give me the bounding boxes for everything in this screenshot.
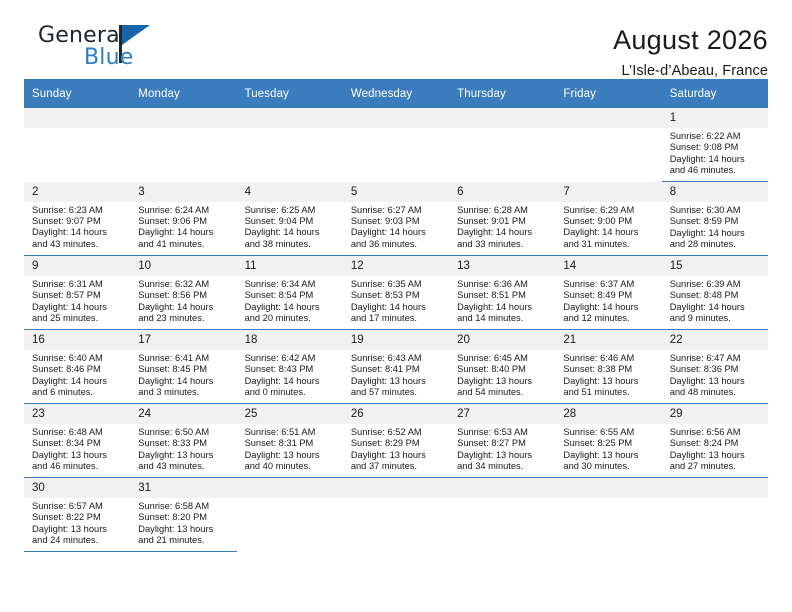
sunset-text: Sunset: 9:04 PM: [245, 216, 337, 227]
day-number: 15: [662, 256, 768, 276]
calendar-day-cell[interactable]: 19Sunrise: 6:43 AMSunset: 8:41 PMDayligh…: [343, 330, 449, 404]
calendar-day-cell[interactable]: 2Sunrise: 6:23 AMSunset: 9:07 PMDaylight…: [24, 182, 130, 256]
calendar-day-cell[interactable]: 29Sunrise: 6:56 AMSunset: 8:24 PMDayligh…: [662, 404, 768, 478]
day-number-placeholder: [343, 108, 449, 128]
calendar-day-cell[interactable]: 18Sunrise: 6:42 AMSunset: 8:43 PMDayligh…: [237, 330, 343, 404]
day-sun-info: Sunrise: 6:29 AMSunset: 9:00 PMDaylight:…: [555, 202, 661, 251]
day-sun-info: Sunrise: 6:41 AMSunset: 8:45 PMDaylight:…: [130, 350, 236, 399]
sunset-text: Sunset: 8:25 PM: [563, 438, 655, 449]
day-sun-info: Sunrise: 6:39 AMSunset: 8:48 PMDaylight:…: [662, 276, 768, 325]
sunrise-text: Sunrise: 6:52 AM: [351, 427, 443, 438]
sunrise-text: Sunrise: 6:50 AM: [138, 427, 230, 438]
daylight-text: Daylight: 14 hours and 3 minutes.: [138, 376, 230, 399]
daylight-text: Daylight: 13 hours and 27 minutes.: [670, 450, 762, 473]
day-sun-info: Sunrise: 6:27 AMSunset: 9:03 PMDaylight:…: [343, 202, 449, 251]
sunrise-text: Sunrise: 6:47 AM: [670, 353, 762, 364]
day-number-placeholder: [24, 108, 130, 128]
day-sun-info: Sunrise: 6:46 AMSunset: 8:38 PMDaylight:…: [555, 350, 661, 399]
day-sun-info: Sunrise: 6:51 AMSunset: 8:31 PMDaylight:…: [237, 424, 343, 473]
sunset-text: Sunset: 8:53 PM: [351, 290, 443, 301]
daylight-text: Daylight: 14 hours and 9 minutes.: [670, 302, 762, 325]
day-number: 10: [130, 256, 236, 276]
calendar-day-cell[interactable]: 25Sunrise: 6:51 AMSunset: 8:31 PMDayligh…: [237, 404, 343, 478]
daylight-text: Daylight: 14 hours and 6 minutes.: [32, 376, 124, 399]
calendar-day-cell[interactable]: 7Sunrise: 6:29 AMSunset: 9:00 PMDaylight…: [555, 182, 661, 256]
daylight-text: Daylight: 14 hours and 20 minutes.: [245, 302, 337, 325]
day-number: 26: [343, 404, 449, 424]
day-number: 11: [237, 256, 343, 276]
calendar-cell-empty: [555, 478, 661, 552]
sunset-text: Sunset: 8:36 PM: [670, 364, 762, 375]
general-blue-logo[interactable]: General Blue: [24, 22, 214, 78]
sunrise-text: Sunrise: 6:32 AM: [138, 279, 230, 290]
calendar-day-cell[interactable]: 17Sunrise: 6:41 AMSunset: 8:45 PMDayligh…: [130, 330, 236, 404]
sunset-text: Sunset: 8:41 PM: [351, 364, 443, 375]
day-number-placeholder: [237, 478, 343, 498]
sunset-text: Sunset: 8:46 PM: [32, 364, 124, 375]
calendar-day-cell[interactable]: 28Sunrise: 6:55 AMSunset: 8:25 PMDayligh…: [555, 404, 661, 478]
calendar-week-row: 1Sunrise: 6:22 AMSunset: 9:08 PMDaylight…: [24, 108, 768, 182]
calendar-day-cell[interactable]: 9Sunrise: 6:31 AMSunset: 8:57 PMDaylight…: [24, 256, 130, 330]
calendar-cell-empty: [237, 108, 343, 182]
sunrise-text: Sunrise: 6:53 AM: [457, 427, 549, 438]
calendar-day-cell[interactable]: 15Sunrise: 6:39 AMSunset: 8:48 PMDayligh…: [662, 256, 768, 330]
day-sun-info: Sunrise: 6:45 AMSunset: 8:40 PMDaylight:…: [449, 350, 555, 399]
day-number: 31: [130, 478, 236, 498]
sunrise-text: Sunrise: 6:45 AM: [457, 353, 549, 364]
calendar-day-cell[interactable]: 16Sunrise: 6:40 AMSunset: 8:46 PMDayligh…: [24, 330, 130, 404]
calendar-cell-empty: [662, 478, 768, 552]
page-title: August 2026: [613, 24, 768, 56]
sunset-text: Sunset: 8:43 PM: [245, 364, 337, 375]
calendar-day-cell[interactable]: 26Sunrise: 6:52 AMSunset: 8:29 PMDayligh…: [343, 404, 449, 478]
page-header: General Blue August 2026 L’Isle-d’Abeau,…: [24, 0, 768, 76]
sunrise-text: Sunrise: 6:43 AM: [351, 353, 443, 364]
day-sun-info: Sunrise: 6:58 AMSunset: 8:20 PMDaylight:…: [130, 498, 236, 547]
day-sun-info: Sunrise: 6:36 AMSunset: 8:51 PMDaylight:…: [449, 276, 555, 325]
sunset-text: Sunset: 8:29 PM: [351, 438, 443, 449]
sunrise-text: Sunrise: 6:39 AM: [670, 279, 762, 290]
weekday-header-friday: Friday: [555, 79, 661, 108]
day-sun-info: Sunrise: 6:47 AMSunset: 8:36 PMDaylight:…: [662, 350, 768, 399]
sunrise-text: Sunrise: 6:28 AM: [457, 205, 549, 216]
day-number: 3: [130, 182, 236, 202]
sunrise-text: Sunrise: 6:57 AM: [32, 501, 124, 512]
month-calendar: Sunday Monday Tuesday Wednesday Thursday…: [24, 79, 768, 552]
daylight-text: Daylight: 13 hours and 34 minutes.: [457, 450, 549, 473]
calendar-cell-empty: [343, 108, 449, 182]
calendar-day-cell[interactable]: 4Sunrise: 6:25 AMSunset: 9:04 PMDaylight…: [237, 182, 343, 256]
sunset-text: Sunset: 8:48 PM: [670, 290, 762, 301]
day-number-placeholder: [237, 108, 343, 128]
day-sun-info: Sunrise: 6:52 AMSunset: 8:29 PMDaylight:…: [343, 424, 449, 473]
weekday-header-row: Sunday Monday Tuesday Wednesday Thursday…: [24, 79, 768, 108]
day-number: 13: [449, 256, 555, 276]
weekday-header-monday: Monday: [130, 79, 236, 108]
daylight-text: Daylight: 13 hours and 21 minutes.: [138, 524, 230, 547]
daylight-text: Daylight: 13 hours and 24 minutes.: [32, 524, 124, 547]
sunset-text: Sunset: 9:06 PM: [138, 216, 230, 227]
day-number-placeholder: [555, 478, 661, 498]
weekday-header-tuesday: Tuesday: [237, 79, 343, 108]
calendar-cell-empty: [449, 478, 555, 552]
logo-triangle-icon: [122, 25, 150, 45]
day-sun-info: Sunrise: 6:48 AMSunset: 8:34 PMDaylight:…: [24, 424, 130, 473]
day-number: 30: [24, 478, 130, 498]
day-number-placeholder: [662, 478, 768, 498]
day-number-placeholder: [449, 478, 555, 498]
calendar-day-cell[interactable]: 20Sunrise: 6:45 AMSunset: 8:40 PMDayligh…: [449, 330, 555, 404]
sunset-text: Sunset: 9:07 PM: [32, 216, 124, 227]
calendar-page: General Blue August 2026 L’Isle-d’Abeau,…: [0, 0, 792, 612]
title-block: August 2026 L’Isle-d’Abeau, France: [613, 22, 768, 82]
day-sun-info: Sunrise: 6:31 AMSunset: 8:57 PMDaylight:…: [24, 276, 130, 325]
sunset-text: Sunset: 8:56 PM: [138, 290, 230, 301]
sunset-text: Sunset: 8:20 PM: [138, 512, 230, 523]
calendar-day-cell[interactable]: 27Sunrise: 6:53 AMSunset: 8:27 PMDayligh…: [449, 404, 555, 478]
calendar-cell-empty: [449, 108, 555, 182]
sunset-text: Sunset: 9:01 PM: [457, 216, 549, 227]
day-sun-info: Sunrise: 6:25 AMSunset: 9:04 PMDaylight:…: [237, 202, 343, 251]
sunrise-text: Sunrise: 6:29 AM: [563, 205, 655, 216]
daylight-text: Daylight: 13 hours and 48 minutes.: [670, 376, 762, 399]
sunrise-text: Sunrise: 6:56 AM: [670, 427, 762, 438]
day-number: 28: [555, 404, 661, 424]
day-sun-info: Sunrise: 6:57 AMSunset: 8:22 PMDaylight:…: [24, 498, 130, 547]
calendar-day-cell[interactable]: 5Sunrise: 6:27 AMSunset: 9:03 PMDaylight…: [343, 182, 449, 256]
daylight-text: Daylight: 14 hours and 36 minutes.: [351, 227, 443, 250]
day-sun-info: Sunrise: 6:53 AMSunset: 8:27 PMDaylight:…: [449, 424, 555, 473]
sunrise-text: Sunrise: 6:40 AM: [32, 353, 124, 364]
sunset-text: Sunset: 9:08 PM: [670, 142, 762, 153]
day-sun-info: Sunrise: 6:40 AMSunset: 8:46 PMDaylight:…: [24, 350, 130, 399]
sunrise-text: Sunrise: 6:27 AM: [351, 205, 443, 216]
day-sun-info: Sunrise: 6:34 AMSunset: 8:54 PMDaylight:…: [237, 276, 343, 325]
daylight-text: Daylight: 13 hours and 40 minutes.: [245, 450, 337, 473]
logo-text-blue: Blue: [84, 46, 133, 70]
sunrise-text: Sunrise: 6:24 AM: [138, 205, 230, 216]
calendar-day-cell[interactable]: 6Sunrise: 6:28 AMSunset: 9:01 PMDaylight…: [449, 182, 555, 256]
daylight-text: Daylight: 14 hours and 46 minutes.: [670, 154, 762, 177]
day-number: 9: [24, 256, 130, 276]
daylight-text: Daylight: 14 hours and 38 minutes.: [245, 227, 337, 250]
day-number: 25: [237, 404, 343, 424]
sunrise-text: Sunrise: 6:31 AM: [32, 279, 124, 290]
day-sun-info: Sunrise: 6:22 AMSunset: 9:08 PMDaylight:…: [662, 128, 768, 177]
sunrise-text: Sunrise: 6:23 AM: [32, 205, 124, 216]
day-sun-info: Sunrise: 6:32 AMSunset: 8:56 PMDaylight:…: [130, 276, 236, 325]
day-sun-info: Sunrise: 6:37 AMSunset: 8:49 PMDaylight:…: [555, 276, 661, 325]
day-sun-info: Sunrise: 6:42 AMSunset: 8:43 PMDaylight:…: [237, 350, 343, 399]
day-sun-info: Sunrise: 6:24 AMSunset: 9:06 PMDaylight:…: [130, 202, 236, 251]
day-number: 21: [555, 330, 661, 350]
daylight-text: Daylight: 13 hours and 37 minutes.: [351, 450, 443, 473]
sunset-text: Sunset: 8:22 PM: [32, 512, 124, 523]
sunrise-text: Sunrise: 6:36 AM: [457, 279, 549, 290]
day-sun-info: Sunrise: 6:55 AMSunset: 8:25 PMDaylight:…: [555, 424, 661, 473]
sunset-text: Sunset: 8:45 PM: [138, 364, 230, 375]
daylight-text: Daylight: 14 hours and 28 minutes.: [670, 228, 762, 251]
calendar-day-cell[interactable]: 10Sunrise: 6:32 AMSunset: 8:56 PMDayligh…: [130, 256, 236, 330]
calendar-day-cell[interactable]: 14Sunrise: 6:37 AMSunset: 8:49 PMDayligh…: [555, 256, 661, 330]
day-number: 24: [130, 404, 236, 424]
sunrise-text: Sunrise: 6:22 AM: [670, 131, 762, 142]
weekday-header-thursday: Thursday: [449, 79, 555, 108]
sunset-text: Sunset: 8:40 PM: [457, 364, 549, 375]
sunset-text: Sunset: 9:03 PM: [351, 216, 443, 227]
sunrise-text: Sunrise: 6:41 AM: [138, 353, 230, 364]
day-number: 16: [24, 330, 130, 350]
sunset-text: Sunset: 8:57 PM: [32, 290, 124, 301]
daylight-text: Daylight: 14 hours and 31 minutes.: [563, 227, 655, 250]
day-number-placeholder: [343, 478, 449, 498]
daylight-text: Daylight: 13 hours and 54 minutes.: [457, 376, 549, 399]
calendar-week-row: 16Sunrise: 6:40 AMSunset: 8:46 PMDayligh…: [24, 330, 768, 404]
calendar-cell-empty: [24, 108, 130, 182]
calendar-day-cell[interactable]: 1Sunrise: 6:22 AMSunset: 9:08 PMDaylight…: [662, 108, 768, 182]
calendar-cell-empty: [555, 108, 661, 182]
daylight-text: Daylight: 13 hours and 57 minutes.: [351, 376, 443, 399]
sunrise-text: Sunrise: 6:35 AM: [351, 279, 443, 290]
daylight-text: Daylight: 13 hours and 43 minutes.: [138, 450, 230, 473]
sunset-text: Sunset: 8:33 PM: [138, 438, 230, 449]
daylight-text: Daylight: 14 hours and 12 minutes.: [563, 302, 655, 325]
calendar-day-cell[interactable]: 3Sunrise: 6:24 AMSunset: 9:06 PMDaylight…: [130, 182, 236, 256]
calendar-cell-empty: [237, 478, 343, 552]
daylight-text: Daylight: 14 hours and 33 minutes.: [457, 227, 549, 250]
sunset-text: Sunset: 8:27 PM: [457, 438, 549, 449]
calendar-day-cell[interactable]: 30Sunrise: 6:57 AMSunset: 8:22 PMDayligh…: [24, 478, 130, 552]
sunrise-text: Sunrise: 6:51 AM: [245, 427, 337, 438]
sunset-text: Sunset: 8:54 PM: [245, 290, 337, 301]
day-number: 2: [24, 182, 130, 202]
calendar-week-row: 23Sunrise: 6:48 AMSunset: 8:34 PMDayligh…: [24, 404, 768, 478]
day-sun-info: Sunrise: 6:43 AMSunset: 8:41 PMDaylight:…: [343, 350, 449, 399]
day-number: 7: [555, 182, 661, 202]
daylight-text: Daylight: 13 hours and 51 minutes.: [563, 376, 655, 399]
sunrise-text: Sunrise: 6:34 AM: [245, 279, 337, 290]
daylight-text: Daylight: 13 hours and 30 minutes.: [563, 450, 655, 473]
daylight-text: Daylight: 14 hours and 43 minutes.: [32, 227, 124, 250]
day-number: 8: [662, 182, 768, 202]
page-subtitle: L’Isle-d’Abeau, France: [613, 60, 768, 82]
day-number: 6: [449, 182, 555, 202]
sunrise-text: Sunrise: 6:37 AM: [563, 279, 655, 290]
day-number: 20: [449, 330, 555, 350]
calendar-day-cell[interactable]: 22Sunrise: 6:47 AMSunset: 8:36 PMDayligh…: [662, 330, 768, 404]
day-number-placeholder: [555, 108, 661, 128]
day-number: 14: [555, 256, 661, 276]
day-number: 27: [449, 404, 555, 424]
day-number: 22: [662, 330, 768, 350]
day-sun-info: Sunrise: 6:50 AMSunset: 8:33 PMDaylight:…: [130, 424, 236, 473]
sunset-text: Sunset: 9:00 PM: [563, 216, 655, 227]
day-number: 4: [237, 182, 343, 202]
calendar-cell-empty: [130, 108, 236, 182]
day-number: 18: [237, 330, 343, 350]
day-sun-info: Sunrise: 6:23 AMSunset: 9:07 PMDaylight:…: [24, 202, 130, 251]
sunrise-text: Sunrise: 6:48 AM: [32, 427, 124, 438]
daylight-text: Daylight: 14 hours and 25 minutes.: [32, 302, 124, 325]
day-number: 1: [662, 108, 768, 128]
calendar-day-cell[interactable]: 12Sunrise: 6:35 AMSunset: 8:53 PMDayligh…: [343, 256, 449, 330]
sunrise-text: Sunrise: 6:30 AM: [670, 205, 762, 216]
daylight-text: Daylight: 14 hours and 41 minutes.: [138, 227, 230, 250]
day-sun-info: Sunrise: 6:28 AMSunset: 9:01 PMDaylight:…: [449, 202, 555, 251]
calendar-cell-empty: [343, 478, 449, 552]
calendar-week-row: 9Sunrise: 6:31 AMSunset: 8:57 PMDaylight…: [24, 256, 768, 330]
sunset-text: Sunset: 8:59 PM: [670, 216, 762, 227]
calendar-day-cell[interactable]: 11Sunrise: 6:34 AMSunset: 8:54 PMDayligh…: [237, 256, 343, 330]
day-number-placeholder: [449, 108, 555, 128]
weekday-header-saturday: Saturday: [662, 79, 768, 108]
sunset-text: Sunset: 8:31 PM: [245, 438, 337, 449]
sunset-text: Sunset: 8:24 PM: [670, 438, 762, 449]
sunset-text: Sunset: 8:38 PM: [563, 364, 655, 375]
daylight-text: Daylight: 13 hours and 46 minutes.: [32, 450, 124, 473]
calendar-body: 1Sunrise: 6:22 AMSunset: 9:08 PMDaylight…: [24, 108, 768, 552]
sunset-text: Sunset: 8:34 PM: [32, 438, 124, 449]
sunrise-text: Sunrise: 6:46 AM: [563, 353, 655, 364]
calendar-day-cell[interactable]: 23Sunrise: 6:48 AMSunset: 8:34 PMDayligh…: [24, 404, 130, 478]
sunrise-text: Sunrise: 6:55 AM: [563, 427, 655, 438]
day-number: 12: [343, 256, 449, 276]
weekday-header-wednesday: Wednesday: [343, 79, 449, 108]
calendar-day-cell[interactable]: 31Sunrise: 6:58 AMSunset: 8:20 PMDayligh…: [130, 478, 236, 552]
calendar-day-cell[interactable]: 24Sunrise: 6:50 AMSunset: 8:33 PMDayligh…: [130, 404, 236, 478]
calendar-day-cell[interactable]: 13Sunrise: 6:36 AMSunset: 8:51 PMDayligh…: [449, 256, 555, 330]
calendar-week-row: 30Sunrise: 6:57 AMSunset: 8:22 PMDayligh…: [24, 478, 768, 552]
sunset-text: Sunset: 8:51 PM: [457, 290, 549, 301]
sunrise-text: Sunrise: 6:25 AM: [245, 205, 337, 216]
daylight-text: Daylight: 14 hours and 23 minutes.: [138, 302, 230, 325]
sunrise-text: Sunrise: 6:58 AM: [138, 501, 230, 512]
day-number: 17: [130, 330, 236, 350]
weekday-header-sunday: Sunday: [24, 79, 130, 108]
sunrise-text: Sunrise: 6:42 AM: [245, 353, 337, 364]
day-number: 5: [343, 182, 449, 202]
daylight-text: Daylight: 14 hours and 14 minutes.: [457, 302, 549, 325]
calendar-week-row: 2Sunrise: 6:23 AMSunset: 9:07 PMDaylight…: [24, 182, 768, 256]
day-number: 29: [662, 404, 768, 424]
daylight-text: Daylight: 14 hours and 17 minutes.: [351, 302, 443, 325]
day-number: 23: [24, 404, 130, 424]
day-number: 19: [343, 330, 449, 350]
day-number-placeholder: [130, 108, 236, 128]
day-sun-info: Sunrise: 6:56 AMSunset: 8:24 PMDaylight:…: [662, 424, 768, 473]
sunset-text: Sunset: 8:49 PM: [563, 290, 655, 301]
calendar-day-cell[interactable]: 8Sunrise: 6:30 AMSunset: 8:59 PMDaylight…: [662, 182, 768, 256]
daylight-text: Daylight: 14 hours and 0 minutes.: [245, 376, 337, 399]
day-sun-info: Sunrise: 6:30 AMSunset: 8:59 PMDaylight:…: [662, 202, 768, 251]
day-sun-info: Sunrise: 6:35 AMSunset: 8:53 PMDaylight:…: [343, 276, 449, 325]
calendar-day-cell[interactable]: 21Sunrise: 6:46 AMSunset: 8:38 PMDayligh…: [555, 330, 661, 404]
